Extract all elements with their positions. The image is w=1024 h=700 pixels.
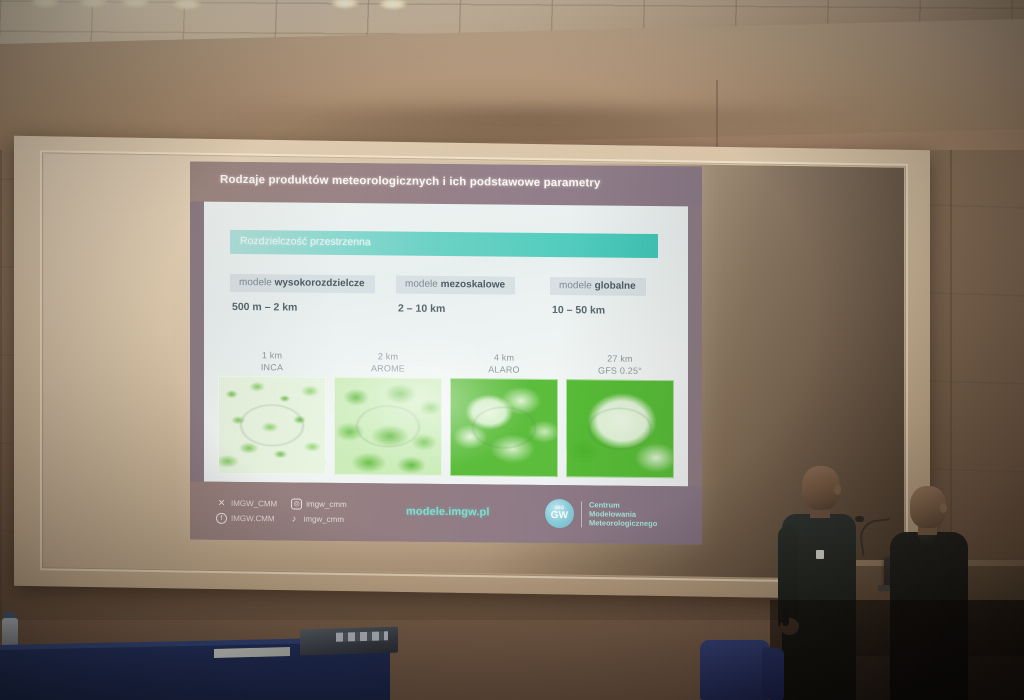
category-label: modele mezoskalowe: [396, 276, 515, 295]
map-resolution-label: 2 km: [334, 351, 442, 362]
footer-website-url: modele.imgw.pl: [406, 506, 490, 519]
category-mezoskalowe: modele mezoskalowe 2 – 10 km: [396, 274, 515, 316]
map-model-label: GFS 0.25°: [566, 365, 674, 376]
category-name: wysokorozdzielcze: [275, 277, 365, 289]
social-handle: IMGW.CMM: [231, 511, 275, 526]
presenter-left-ear: [834, 484, 841, 495]
organization-name: Centrum Modelowania Meteorologicznego: [589, 500, 657, 528]
category-range: 10 – 50 km: [550, 304, 646, 317]
map-panel-gfs: 27 km GFS 0.25°: [566, 353, 674, 376]
slide-body: Rozdzielczość przestrzenna modele wysoko…: [204, 202, 688, 487]
av-equipment-controls: [336, 631, 388, 641]
map-model-label: INCA: [218, 362, 326, 373]
social-handle: imgw_cmm: [306, 497, 346, 512]
category-name: globalne: [595, 280, 636, 291]
model-resolution-map-row: 1 km INCA 2 km AROME 4 km ALARO: [218, 350, 674, 482]
tiktok-icon: ♪: [289, 513, 300, 524]
section-heading-bar: Rozdzielczość przestrzenna: [230, 230, 658, 258]
presenter-right-ear: [940, 503, 947, 513]
imgw-logo-block: IMG GW Centrum Modelowania Meteorologicz…: [545, 499, 657, 529]
projected-slide: Rodzaje produktów meteorologicznych i ic…: [190, 162, 702, 545]
map-panel-inca: 1 km INCA: [218, 350, 326, 373]
auditorium-chair-side: [762, 647, 784, 700]
category-prefix: modele: [239, 277, 272, 288]
ceiling-lights: [0, 0, 520, 22]
presenter-left-badge: [816, 550, 824, 559]
category-label: modele wysokorozdzielcze: [230, 274, 375, 293]
map-outline: [567, 380, 673, 477]
social-tiktok: ♪ imgw_cmm: [289, 511, 344, 527]
org-line-3: Meteorologicznego: [589, 518, 657, 528]
map-outline: [219, 377, 325, 474]
category-range: 2 – 10 km: [396, 303, 515, 316]
social-instagram: ◎ imgw_cmm: [291, 497, 346, 513]
map-panel-arome: 2 km AROME: [334, 351, 442, 374]
category-name: mezoskalowe: [441, 279, 505, 291]
social-handle: imgw_cmm: [304, 512, 344, 527]
social-x: ✕ IMGW_CMM: [216, 496, 277, 512]
map-model-label: AROME: [334, 363, 442, 374]
imgw-logo-icon: IMG GW: [545, 499, 574, 528]
social-handles: ✕ IMGW_CMM ◎ imgw_cmm f IMGW.CMM ♪: [216, 496, 347, 527]
section-heading-label: Rozdzielczość przestrzenna: [240, 235, 371, 248]
category-range: 500 m – 2 km: [230, 301, 375, 314]
social-facebook: f IMGW.CMM: [216, 511, 275, 527]
slide-footer-band: ✕ IMGW_CMM ◎ imgw_cmm f IMGW.CMM ♪: [190, 482, 702, 545]
instagram-icon: ◎: [291, 499, 302, 510]
logo-divider: [581, 501, 582, 527]
x-twitter-icon: ✕: [216, 498, 227, 509]
map-resolution-label: 1 km: [218, 350, 326, 361]
map-image-gfs: [566, 379, 674, 478]
map-resolution-label: 4 km: [450, 352, 558, 363]
category-prefix: modele: [405, 279, 438, 290]
map-image-alaro: [450, 378, 558, 477]
category-prefix: modele: [559, 280, 592, 291]
right-foreground-shadow: [770, 600, 1024, 700]
map-panel-alaro: 4 km ALARO: [450, 352, 558, 375]
map-model-label: ALARO: [450, 364, 558, 375]
conference-room-scene: Rodzaje produktów meteorologicznych i ic…: [0, 0, 1024, 700]
social-row-top: ✕ IMGW_CMM ◎ imgw_cmm: [216, 496, 347, 512]
social-row-bottom: f IMGW.CMM ♪ imgw_cmm: [216, 511, 347, 527]
category-wysokorozdzielcze: modele wysokorozdzielcze 500 m – 2 km: [230, 272, 375, 314]
map-resolution-label: 27 km: [566, 353, 674, 364]
auditorium-chair: [700, 640, 770, 700]
facebook-icon: f: [216, 513, 227, 524]
logo-bottom-text: GW: [551, 511, 569, 521]
category-label: modele globalne: [550, 277, 646, 296]
map-outline: [451, 379, 557, 476]
social-handle: IMGW_CMM: [231, 496, 277, 511]
map-image-arome: [334, 377, 442, 476]
category-globalne: modele globalne 10 – 50 km: [550, 275, 646, 317]
map-image-inca: [218, 376, 326, 475]
map-outline: [335, 378, 441, 475]
